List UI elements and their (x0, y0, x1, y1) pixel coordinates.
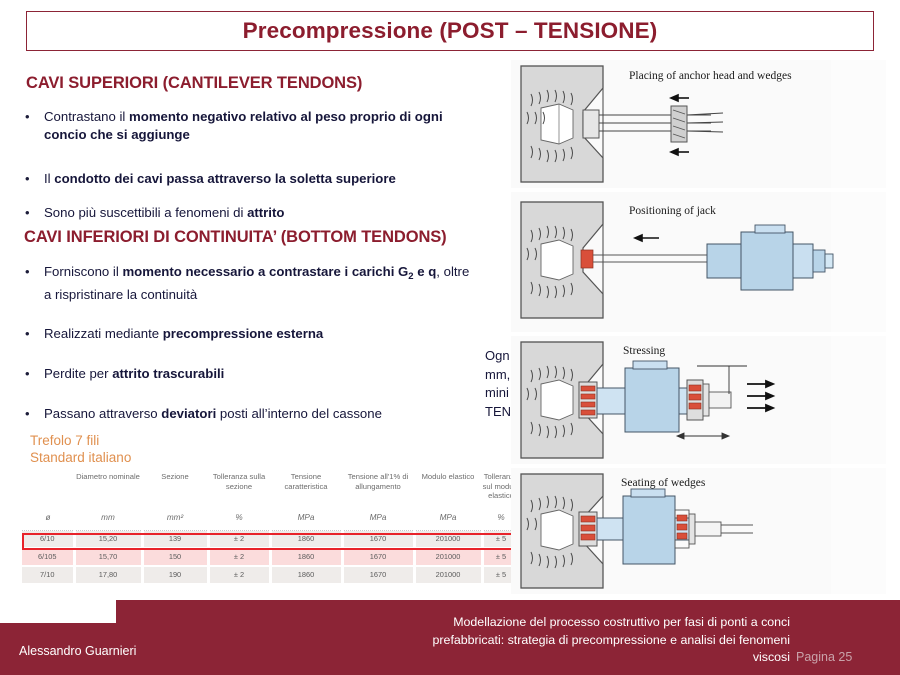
table-cell: 7/10 (22, 566, 74, 584)
bullet-marker: • (22, 263, 44, 281)
table-cell: 1670 (342, 548, 414, 566)
bullet-text: Passano attraverso deviatori posti all’i… (44, 405, 382, 423)
table-header-unit-row: ø mm mm² % MPa MPa MPa % (22, 510, 520, 531)
table-unit-cell: MPa (414, 510, 482, 531)
table-cell: 201000 (414, 531, 482, 549)
table-unit-cell: mm (74, 510, 142, 531)
diagram-panel-placing-anchor-head: Placing of anchor head and wedges (511, 60, 886, 188)
slide-title-box: Precompressione (POST – TENSIONE) (26, 11, 874, 51)
bullet-marker: • (22, 204, 44, 222)
table-header-cell: Tolleranza sulla sezione (208, 471, 270, 510)
table-cell: 201000 (414, 548, 482, 566)
bullet-text: Sono più suscettibili a fenomeni di attr… (44, 204, 284, 222)
table-cell: ± 2 (208, 531, 270, 549)
table-header-cell: Diametro nominale (74, 471, 142, 510)
footer-title-line-1: Modellazione del processo costruttivo pe… (300, 614, 790, 632)
table-unit-cell: ø (22, 510, 74, 531)
table-cell: 1860 (270, 531, 342, 549)
diagram-panel-positioning-jack: Positioning of jack (511, 192, 886, 332)
bullet-text: Il condotto dei cavi passa attraverso la… (44, 170, 396, 188)
bullet-marker: • (22, 365, 44, 383)
table-cell: ± 2 (208, 566, 270, 584)
table-header-cell: Sezione (142, 471, 208, 510)
bullet-text: Perdite per attrito trascurabili (44, 365, 224, 383)
strand-caption-line-1: Trefolo 7 fili (30, 432, 131, 449)
table-cell: ± 2 (208, 548, 270, 566)
list-item: • Contrastano il momento negativo relati… (22, 108, 492, 144)
table-row: 6/10 15,20 139 ± 2 1860 1670 201000 ± 5 (22, 531, 520, 549)
table-cell: 1670 (342, 531, 414, 549)
strand-properties-table: Diametro nominale Sezione Tolleranza sul… (22, 471, 522, 585)
list-item: • Il condotto dei cavi passa attraverso … (22, 170, 492, 188)
table-cell: 1860 (270, 548, 342, 566)
table-cell: 6/10 (22, 531, 74, 549)
bullet-marker: • (22, 405, 44, 423)
list-item: • Forniscono il momento necessario a con… (22, 263, 492, 304)
table-unit-cell: % (208, 510, 270, 531)
list-item: • Realizzati mediante precompressione es… (22, 325, 492, 343)
bullet-marker: • (22, 108, 44, 126)
footer-presentation-title: Modellazione del processo costruttivo pe… (300, 614, 790, 667)
table-cell: 190 (142, 566, 208, 584)
section-heading-cantilever-tendons: CAVI SUPERIORI (CANTILEVER TENDONS) (26, 74, 362, 93)
table-unit-cell: mm² (142, 510, 208, 531)
anchorage-sequence-diagrams: Placing of anchor head and wedges (511, 60, 886, 590)
panel-caption: Placing of anchor head and wedges (629, 70, 792, 82)
diagram-panel-seating-wedges: Seating of wedges (511, 468, 886, 594)
table-header-cell: Modulo elastico (414, 471, 482, 510)
diagram-panel-stressing: Stressing (511, 336, 886, 464)
panel-caption: Stressing (623, 345, 665, 357)
table-row-highlighted: 6/105 15,70 150 ± 2 1860 1670 201000 ± 5 (22, 548, 520, 566)
strand-table-caption: Trefolo 7 fili Standard italiano (30, 432, 131, 466)
bullet-text: Realizzati mediante precompressione este… (44, 325, 323, 343)
table-cell: 6/105 (22, 548, 74, 566)
list-item: • Sono più suscettibili a fenomeni di at… (22, 204, 492, 222)
bullet-marker: • (22, 325, 44, 343)
page-title: Precompressione (POST – TENSIONE) (243, 18, 658, 44)
list-item: • Perdite per attrito trascurabili (22, 365, 492, 383)
table-cell: 15,20 (74, 531, 142, 549)
table-header-cell: Tensione caratteristica (270, 471, 342, 510)
bullet-text: Forniscono il momento necessario a contr… (44, 263, 474, 304)
table-header-cell: Tensione all'1% di allungamento (342, 471, 414, 510)
table-cell: 15,70 (74, 548, 142, 566)
panel-caption: Seating of wedges (621, 477, 706, 489)
table-cell: 201000 (414, 566, 482, 584)
table-cell: 1860 (270, 566, 342, 584)
table-cell: 150 (142, 548, 208, 566)
section-heading-bottom-tendons: CAVI INFERIORI DI CONTINUITA’ (BOTTOM TE… (24, 228, 447, 247)
table-header-group-row: Diametro nominale Sezione Tolleranza sul… (22, 471, 520, 510)
list-item: • Passano attraverso deviatori posti all… (22, 405, 492, 423)
strand-table-block: Trefolo 7 fili Standard italiano Diametr… (22, 425, 520, 585)
table-row: 7/10 17,80 190 ± 2 1860 1670 201000 ± 5 (22, 566, 520, 584)
strand-caption-line-2: Standard italiano (30, 449, 131, 466)
footer-title-line-3: viscosi (300, 649, 790, 667)
strand-table-body: 6/10 15,20 139 ± 2 1860 1670 201000 ± 5 … (22, 531, 520, 585)
table-cell: 17,80 (74, 566, 142, 584)
footer-author: Alessandro Guarnieri (19, 644, 136, 658)
bullet-text: Contrastano il momento negativo relativo… (44, 108, 474, 144)
bullet-marker: • (22, 170, 44, 188)
footer-title-line-2: prefabbricati: strategia di precompressi… (300, 632, 790, 650)
table-cell: 139 (142, 531, 208, 549)
footer-page-number: Pagina 25 (796, 650, 852, 664)
table-unit-cell: MPa (342, 510, 414, 531)
panel-caption: Positioning of jack (629, 205, 716, 217)
table-cell: 1670 (342, 566, 414, 584)
table-unit-cell: MPa (270, 510, 342, 531)
table-header-cell (22, 471, 74, 510)
